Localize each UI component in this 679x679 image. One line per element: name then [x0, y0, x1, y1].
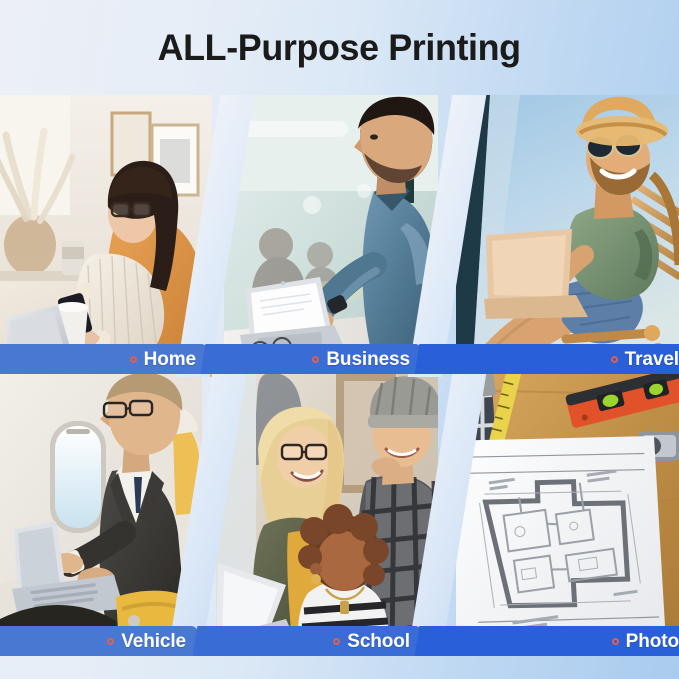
panel-label-vehicle[interactable]: Vehicle — [0, 626, 198, 656]
panel-photo[interactable] — [456, 373, 679, 655]
photo-home — [0, 95, 212, 377]
panel-label-school[interactable]: School — [206, 626, 422, 656]
panel-home[interactable] — [0, 95, 212, 377]
panel-school[interactable] — [216, 373, 438, 655]
panel-row-bottom — [0, 373, 679, 655]
photo-business — [224, 95, 438, 377]
photo-photo — [456, 373, 679, 655]
promo-banner: ALL-Purpose Printing — [0, 0, 679, 679]
panel-label-school-text: School — [347, 632, 410, 651]
panel-label-business-text: Business — [326, 350, 410, 369]
photo-school — [216, 373, 438, 655]
bullet-circle-icon — [611, 356, 618, 363]
panel-label-travel-text: Travel — [625, 350, 679, 369]
panel-vehicle[interactable] — [0, 373, 202, 655]
panel-label-home-text: Home — [144, 350, 196, 369]
panel-label-vehicle-text: Vehicle — [121, 632, 186, 651]
bullet-circle-icon — [333, 638, 340, 645]
panel-business[interactable] — [224, 95, 438, 377]
panel-label-travel[interactable]: Travel — [428, 344, 679, 374]
bullet-circle-icon — [312, 356, 319, 363]
bullet-circle-icon — [130, 356, 137, 363]
panel-label-photo[interactable]: Photo — [428, 626, 679, 656]
page-title: ALL-Purpose Printing — [0, 0, 679, 95]
photo-travel — [456, 95, 679, 377]
photo-vehicle — [0, 373, 202, 655]
panel-label-home[interactable]: Home — [0, 344, 208, 374]
bullet-circle-icon — [107, 638, 114, 645]
bullet-circle-icon — [612, 638, 619, 645]
panel-travel[interactable] — [456, 95, 679, 377]
panel-row-top — [0, 95, 679, 377]
panel-label-photo-text: Photo — [626, 632, 679, 651]
page-title-text: ALL-Purpose Printing — [158, 27, 521, 69]
panel-label-business[interactable]: Business — [214, 344, 422, 374]
